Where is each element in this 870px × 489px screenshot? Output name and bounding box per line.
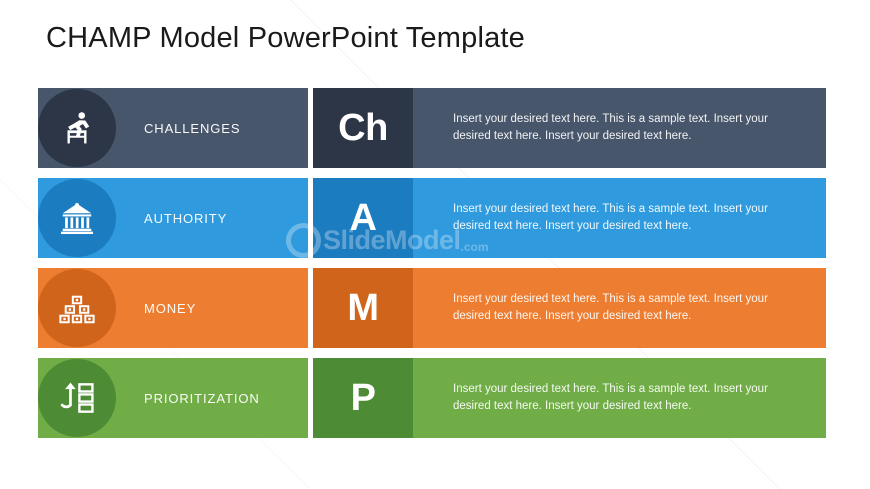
row-icon-circle[interactable] xyxy=(38,89,116,167)
money-bars-pyramid-icon xyxy=(58,289,96,327)
row-label: CHALLENGES xyxy=(144,88,240,168)
body-panel: Insert your desired text here. This is a… xyxy=(413,178,826,258)
row-label: AUTHORITY xyxy=(144,178,227,258)
reorder-list-arrow-icon xyxy=(58,379,96,417)
slide-canvas: CHAMP Model PowerPoint Template CHALLENG… xyxy=(0,0,870,489)
body-panel: Insert your desired text here. This is a… xyxy=(413,268,826,348)
body-panel: Insert your desired text here. This is a… xyxy=(413,358,826,438)
row-body-text: Insert your desired text here. This is a… xyxy=(413,111,826,145)
letter-block: M xyxy=(313,268,413,348)
row-body-text: Insert your desired text here. This is a… xyxy=(413,201,826,235)
row-label: PRIORITIZATION xyxy=(144,358,260,438)
letter-glyph: Ch xyxy=(338,109,388,147)
row-body-text: Insert your desired text here. This is a… xyxy=(413,381,826,415)
hurdle-runner-icon xyxy=(58,109,96,147)
letter-glyph: P xyxy=(351,379,376,417)
row-icon-circle[interactable] xyxy=(38,179,116,257)
letter-block: Ch xyxy=(313,88,413,168)
row-label: MONEY xyxy=(144,268,196,348)
letter-block: A xyxy=(313,178,413,258)
body-panel: Insert your desired text here. This is a… xyxy=(413,88,826,168)
letter-block: P xyxy=(313,358,413,438)
page-title: CHAMP Model PowerPoint Template xyxy=(46,22,525,55)
row-body-text: Insert your desired text here. This is a… xyxy=(413,291,826,325)
bank-building-icon xyxy=(58,199,96,237)
letter-glyph: M xyxy=(347,289,378,327)
letter-glyph: A xyxy=(350,199,377,237)
row-icon-circle[interactable] xyxy=(38,269,116,347)
row-icon-circle[interactable] xyxy=(38,359,116,437)
